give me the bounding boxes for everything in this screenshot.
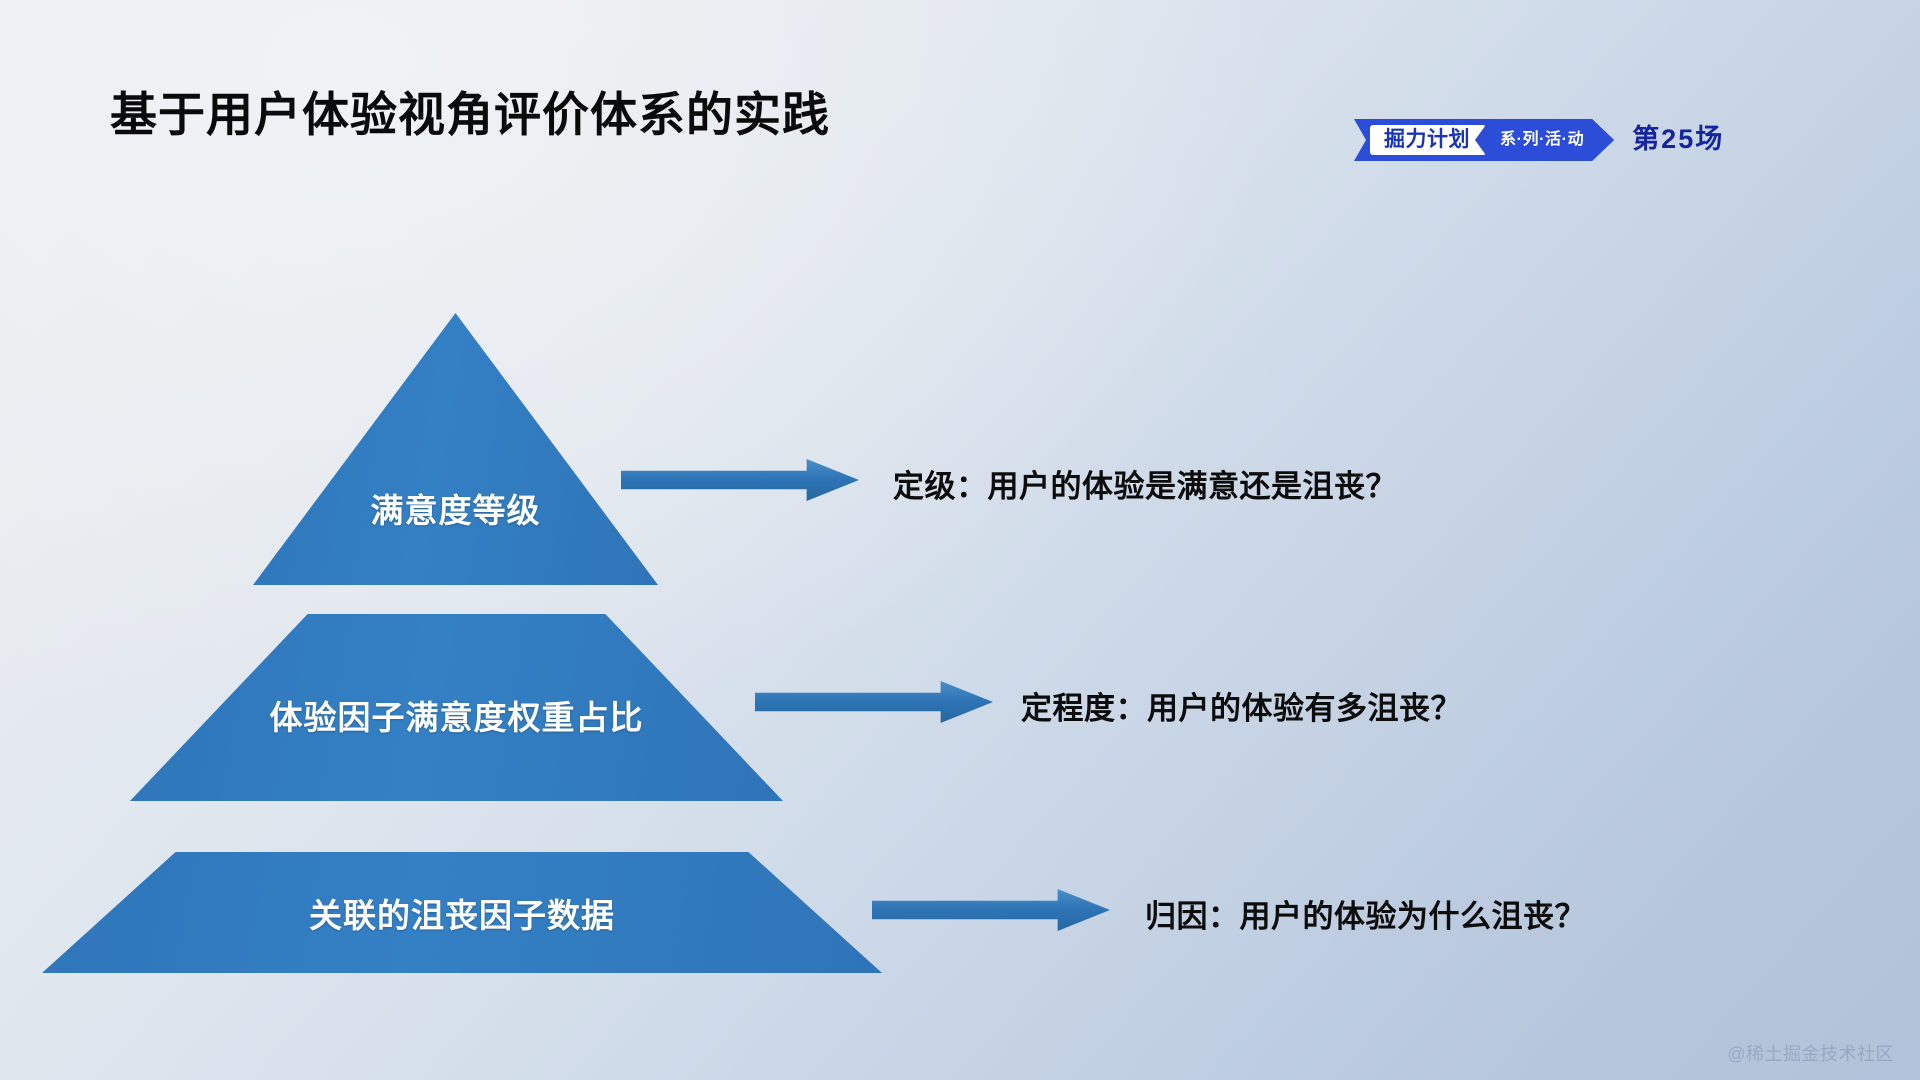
badge-program-label: 掘力计划	[1370, 125, 1486, 156]
right-arrow-icon-top	[621, 459, 859, 501]
page-title: 基于用户体验视角评价体系的实践	[110, 86, 830, 145]
right-arrow-icon-bottom	[872, 889, 1110, 931]
right-arrow-icon-middle	[755, 681, 993, 723]
event-badge: 掘力计划 系·列·活·动 第25场	[1354, 118, 1724, 162]
watermark: @稀土掘金技术社区	[1727, 1040, 1894, 1066]
badge-series-label: 系·列·活·动	[1500, 131, 1584, 149]
slide-canvas: 基于用户体验视角评价体系的实践 掘力计划 系·列·活·动 第25场 满意度等级 …	[0, 0, 1920, 1080]
pyramid-tier-top-label: 满意度等级	[371, 484, 541, 532]
pyramid-tier-middle: 体验因子满意度权重占比	[130, 614, 783, 801]
pyramid-tier-bottom: 关联的沮丧因子数据	[42, 852, 882, 973]
callout-text-middle: 定程度：用户的体验有多沮丧？	[1021, 683, 1462, 728]
callout-text-bottom: 归因：用户的体验为什么沮丧？	[1145, 891, 1586, 936]
badge-chevron-icon: 掘力计划 系·列·活·动	[1354, 119, 1614, 161]
pyramid-tier-middle-label: 体验因子满意度权重占比	[270, 691, 644, 739]
badge-session-label: 第25场	[1632, 125, 1724, 155]
pyramid-tier-top: 满意度等级	[253, 313, 658, 585]
pyramid-tier-bottom-label: 关联的沮丧因子数据	[309, 889, 615, 937]
callout-text-top: 定级：用户的体验是满意还是沮丧？	[893, 461, 1397, 506]
